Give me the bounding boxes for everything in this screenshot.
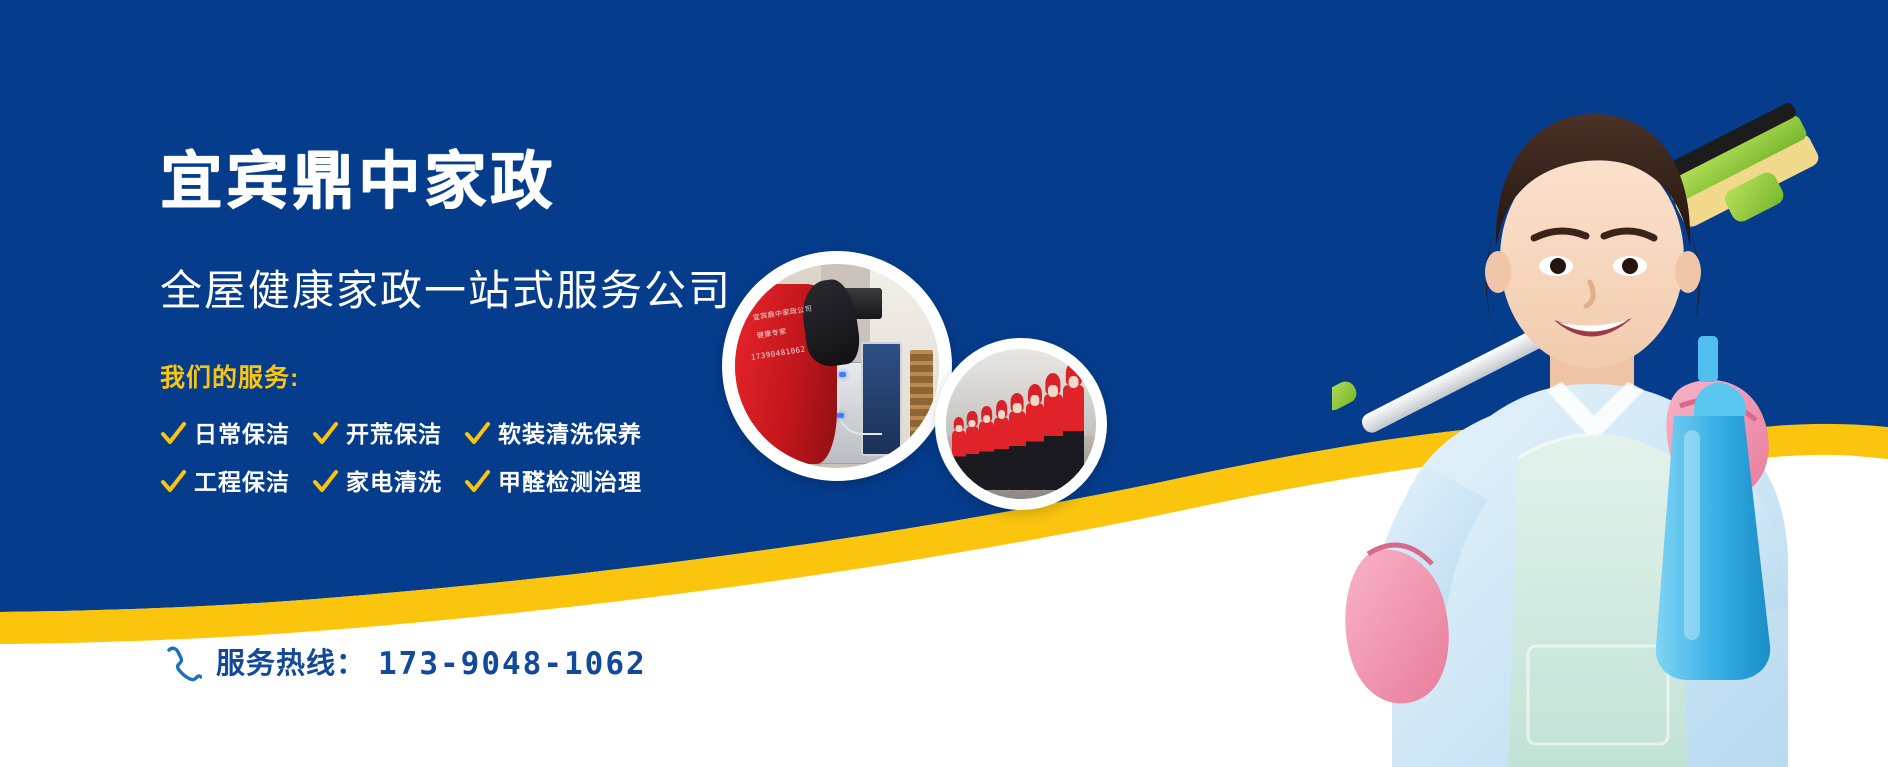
check-icon [312, 469, 338, 495]
scene-cable [837, 382, 882, 435]
service-item-formaldehyde-treatment[interactable]: 甲醛检测治理 [464, 469, 642, 495]
promotional-banner: 宜宾鼎中家政公司 健康专家 17390481062 宜宾鼎中家政 [0, 0, 1888, 767]
services-heading: 我们的服务: [160, 366, 299, 391]
check-icon [160, 469, 186, 495]
hotline-label: 服务热线： [216, 650, 366, 679]
service-item-label: 开荒保洁 [346, 423, 442, 446]
photo-circle-appliance-cleaning: 宜宾鼎中家政公司 健康专家 17390481062 [722, 251, 952, 481]
team-member [994, 417, 1009, 491]
team-member [1009, 411, 1026, 491]
check-icon [160, 421, 186, 447]
scene-ladder [910, 350, 932, 452]
cleaning-lady-illustration [1332, 86, 1888, 767]
service-item-daily-cleaning[interactable]: 日常保洁 [160, 421, 290, 447]
team-member [1044, 394, 1064, 490]
team-member [952, 430, 966, 490]
photo-circle-team-image [946, 349, 1096, 499]
check-icon [464, 421, 490, 447]
service-item-appliance-cleaning[interactable]: 家电清洗 [312, 469, 442, 495]
services-row: 日常保洁 开荒保洁 软装清洗保养 [160, 410, 664, 458]
service-item-label: 工程保洁 [194, 471, 290, 494]
photo-circle-team [935, 338, 1107, 510]
service-item-engineering-cleaning[interactable]: 工程保洁 [160, 469, 290, 495]
phone-icon [160, 643, 202, 685]
check-icon [464, 469, 490, 495]
scene-led-indicator [837, 413, 844, 418]
lady-head [1485, 114, 1701, 416]
hotline-number[interactable]: 173-9048-1062 [378, 649, 647, 680]
photo-circle-appliance-cleaning-image: 宜宾鼎中家政公司 健康专家 17390481062 [735, 264, 939, 468]
service-item-label: 日常保洁 [194, 423, 290, 446]
service-item-soft-furnishing-care[interactable]: 软装清洗保养 [464, 421, 642, 447]
page-title: 宜宾鼎中家政 [160, 150, 556, 212]
service-item-post-renovation-cleaning[interactable]: 开荒保洁 [312, 421, 442, 447]
hotline-block[interactable]: 服务热线： 173-9048-1062 [160, 643, 647, 685]
brand-subtitle: 全屋健康家政一站式服务公司 [160, 270, 732, 312]
team-member [1063, 385, 1084, 490]
service-item-label: 甲醛检测治理 [498, 471, 642, 494]
check-icon [312, 421, 338, 447]
service-item-label: 家电清洗 [346, 471, 442, 494]
spray-bottle [1656, 336, 1770, 680]
service-item-label: 软装清洗保养 [498, 423, 642, 446]
team-member [966, 426, 980, 491]
scene-led-indicator [839, 372, 846, 377]
services-row: 工程保洁 家电清洗 甲醛检测治理 [160, 458, 664, 506]
team-member [1026, 403, 1044, 490]
cleaning-lady-photo [1332, 86, 1888, 767]
services-list: 日常保洁 开荒保洁 软装清洗保养 [160, 410, 664, 506]
team-member [979, 421, 994, 490]
